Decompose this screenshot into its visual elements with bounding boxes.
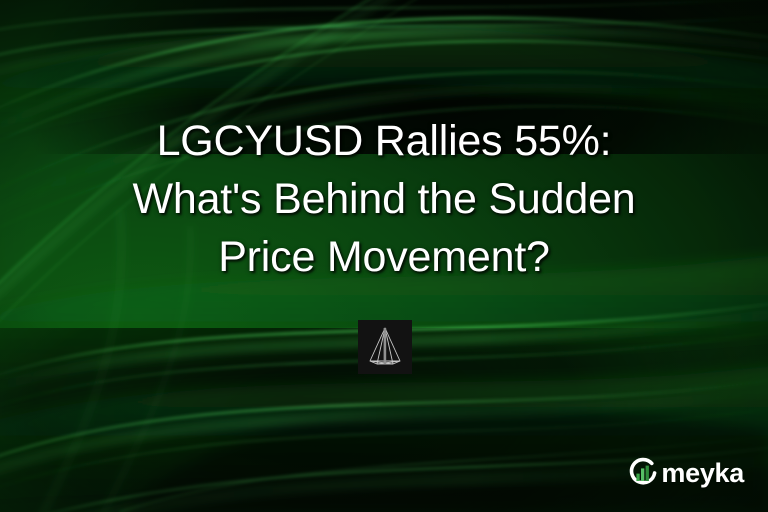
brand-logo: meyka	[626, 456, 744, 490]
meyka-circle-bars-icon	[626, 456, 660, 490]
banner-image: LGCYUSD Rallies 55%: What's Behind the S…	[0, 0, 768, 512]
asset-logo-badge	[358, 320, 412, 374]
title-line-2: What's Behind the Sudden	[24, 170, 744, 228]
lgcy-pyramid-icon	[358, 320, 412, 374]
brand-name: meyka	[661, 460, 744, 487]
title-line-3: Price Movement?	[24, 228, 744, 286]
page-title: LGCYUSD Rallies 55%: What's Behind the S…	[0, 112, 768, 286]
title-line-1: LGCYUSD Rallies 55%:	[24, 112, 744, 170]
